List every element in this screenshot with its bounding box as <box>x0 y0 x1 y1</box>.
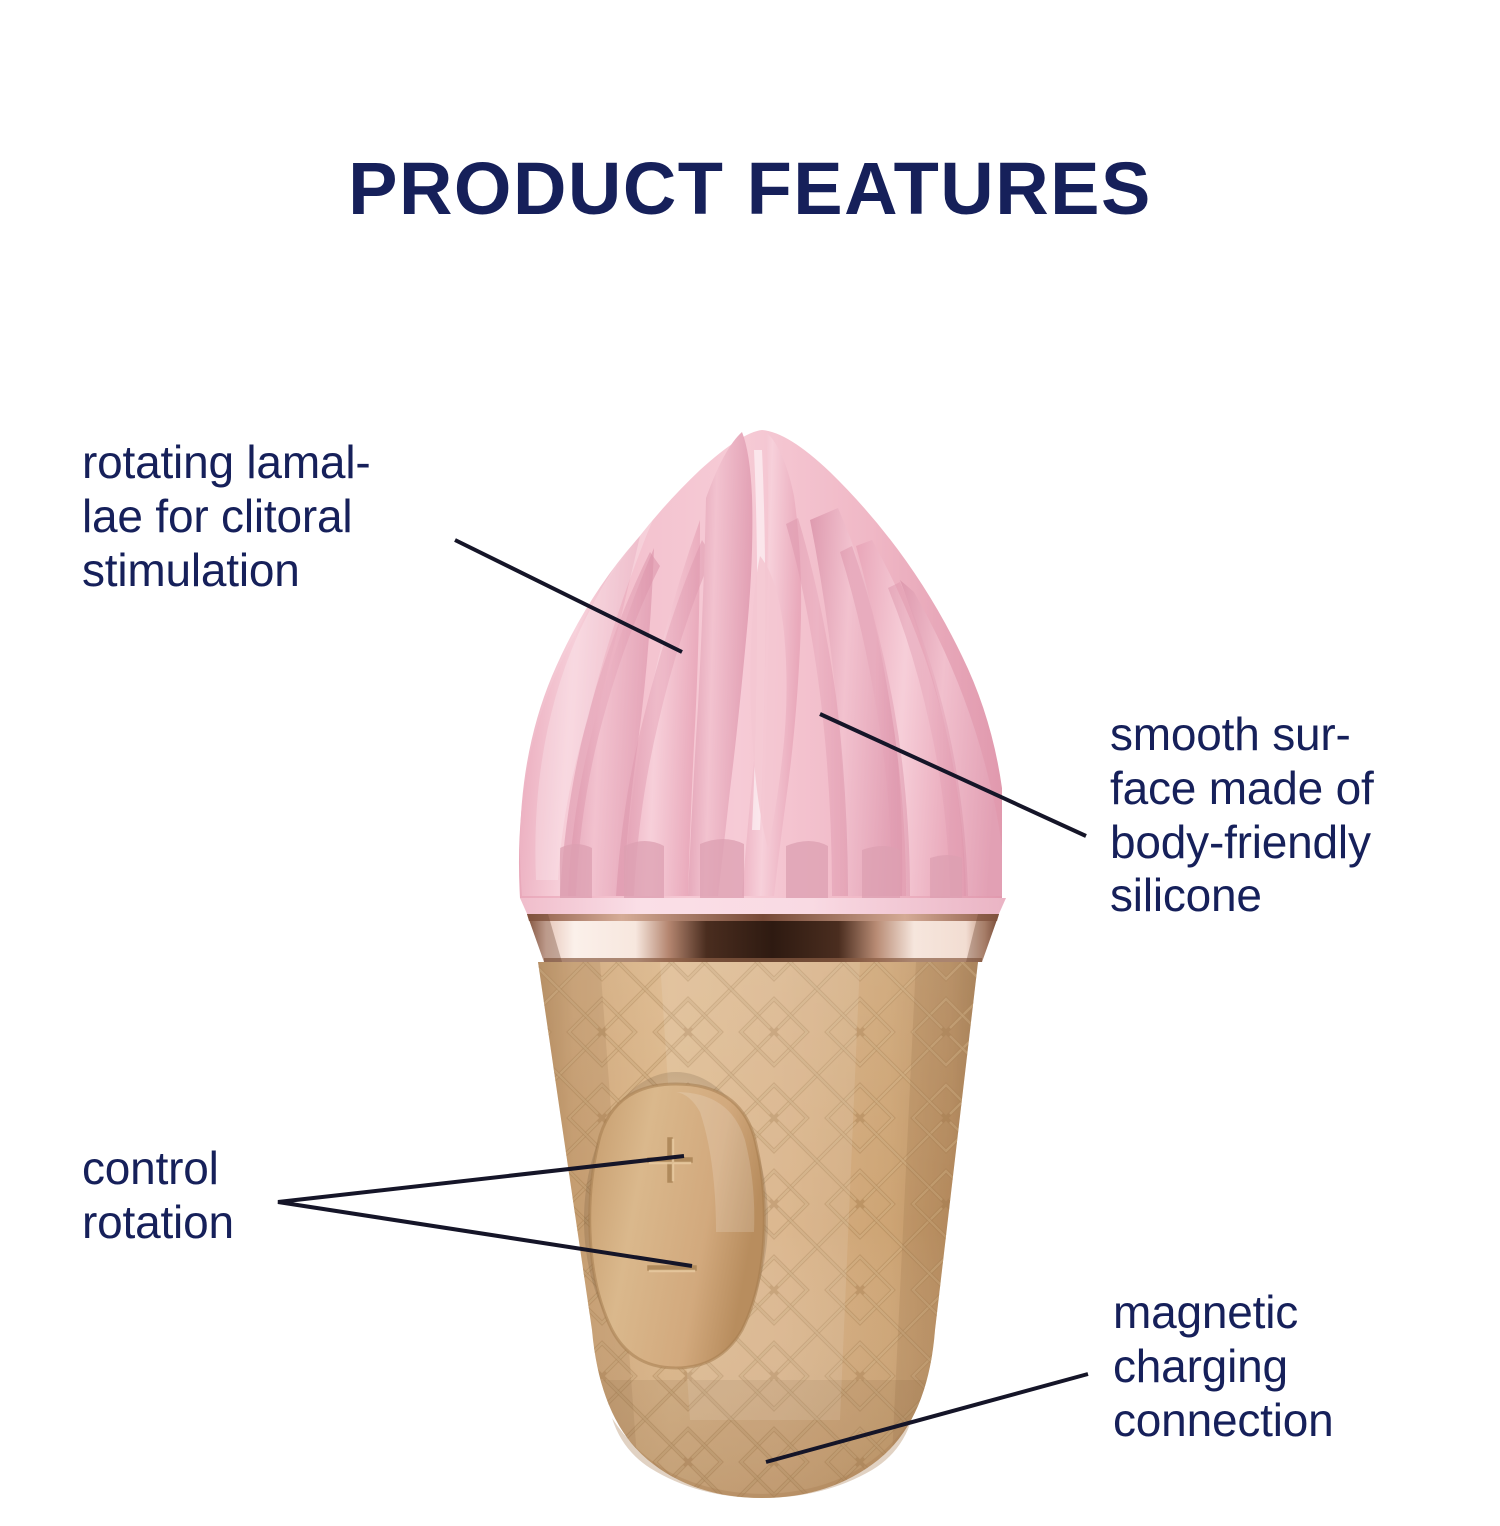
product-features-infographic: PRODUCT FEATURES rotating lamal- lae for… <box>0 0 1500 1526</box>
control-panel <box>584 1072 768 1368</box>
annotation-smooth-surface-silicone: smooth sur- face made of body-friendly s… <box>1110 708 1500 923</box>
rotating-lamellae-head <box>519 430 1007 898</box>
rose-gold-metal-band <box>527 914 999 962</box>
annotation-magnetic-charging-connection: magnetic charging connection <box>1113 1286 1500 1447</box>
waffle-cone-body <box>500 940 1020 1520</box>
control-minus-button[interactable] <box>650 1268 694 1271</box>
page-title: PRODUCT FEATURES <box>0 152 1500 226</box>
head-collar <box>520 898 1006 916</box>
annotation-rotating-lamellae: rotating lamal- lae for clitoral stimula… <box>82 436 512 597</box>
annotation-control-rotation: control rotation <box>82 1142 412 1250</box>
